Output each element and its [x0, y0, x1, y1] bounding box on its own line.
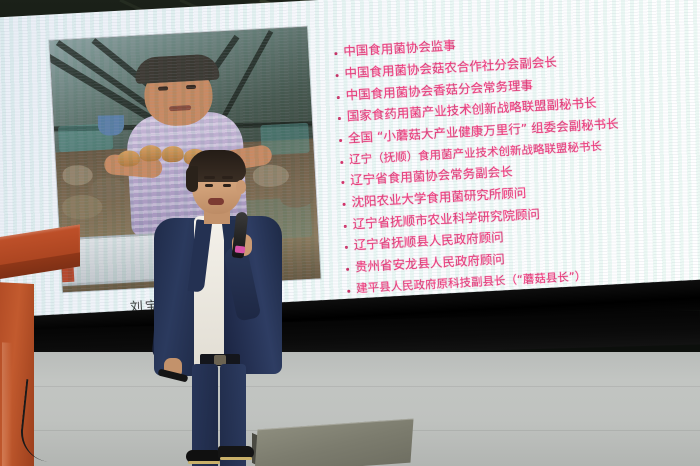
microphone-band [235, 245, 246, 253]
farmer-collar [98, 115, 124, 135]
bullet-dot-icon [334, 52, 337, 55]
shoe-sole [188, 461, 220, 464]
bullet-dot-icon [340, 161, 343, 164]
farmer-eye [186, 85, 196, 90]
bullet-label: 中国食用菌协会监事 [343, 37, 456, 62]
led-screen: 刘宝 中国食用菌协会监事 中国食用菌协会菇农合作社分会副会长 中国食用菌协会香菇… [0, 0, 700, 348]
slide-bullet-list: 中国食用菌协会监事 中国食用菌协会菇农合作社分会副会长 中国食用菌协会香菇分会常… [334, 23, 700, 301]
bullet-dot-icon [347, 289, 350, 292]
presenter-mouth [208, 198, 224, 205]
presenter-eye [205, 184, 213, 187]
mushroom-icon [117, 150, 140, 167]
presenter-ear [236, 180, 246, 194]
farmer-hat [134, 53, 219, 84]
presenter-brow [222, 176, 233, 179]
farmer-eye [158, 86, 168, 91]
podium-sheen [2, 342, 12, 466]
bullet-dot-icon [344, 224, 347, 227]
photo-scene: 刘宝 中国食用菌协会监事 中国食用菌协会菇农合作社分会副会长 中国食用菌协会香菇… [0, 0, 700, 466]
bullet-dot-icon [343, 203, 346, 206]
bullet-dot-icon [339, 139, 342, 142]
shoe-sole [220, 457, 252, 460]
presenter-brow [204, 176, 215, 179]
bullet-dot-icon [338, 117, 341, 120]
floor-seam [0, 386, 700, 387]
presenter [148, 150, 298, 466]
floor-cable [18, 379, 88, 465]
bullet-dot-icon [345, 246, 348, 249]
bullet-dot-icon [341, 181, 344, 184]
presenter-eye [223, 184, 231, 187]
bullet-dot-icon [336, 74, 339, 77]
presenter-hair-side [186, 166, 198, 192]
bullet-dot-icon [346, 268, 349, 271]
bullet-dot-icon [337, 95, 340, 98]
led-screen-surface: 刘宝 中国食用菌协会监事 中国食用菌协会菇农合作社分会副会长 中国食用菌协会香菇… [0, 0, 700, 318]
